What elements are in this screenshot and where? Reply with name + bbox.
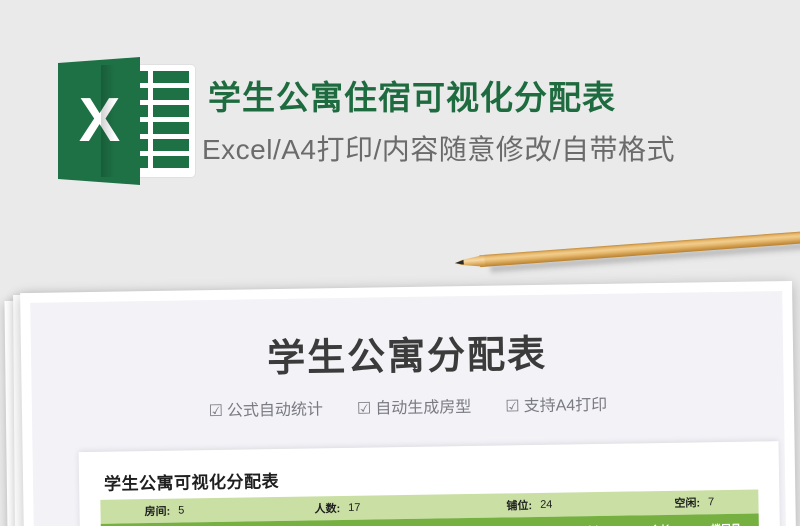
feature-label: 公式自动统计	[227, 401, 323, 420]
stat-people: 人数: 17	[284, 498, 472, 517]
checkbox-icon: ☑	[357, 401, 372, 418]
banner-title: 学生公寓住宿可视化分配表	[208, 71, 616, 119]
checkbox-icon: ☑	[209, 403, 224, 420]
feature-list: ☑公式自动统计 ☑自动生成房型 ☑支持A4打印	[32, 388, 784, 424]
stat-vacant: 空闲: 7	[664, 494, 758, 511]
excel-logo-icon: X	[58, 57, 198, 185]
feature-label: 支持A4打印	[524, 397, 608, 415]
stat-beds: 铺位: 24	[472, 495, 664, 514]
stat-value: 7	[708, 496, 714, 508]
document-title: 学生公寓分配表	[31, 319, 784, 386]
stat-rooms: 房间: 5	[100, 501, 284, 520]
feature-item-0: ☑公式自动统计	[208, 395, 323, 421]
banner-subtitle: Excel/A4打印/内容随意修改/自带格式	[202, 128, 675, 168]
document-page: 学生公寓分配表 ☑公式自动统计 ☑自动生成房型 ☑支持A4打印 学生公寓可视化分…	[30, 291, 786, 526]
spreadsheet-heading: 学生公寓可视化分配表	[104, 467, 279, 495]
column-header: 班级	[561, 521, 627, 526]
column-header: 会长	[627, 520, 693, 526]
feature-label: 自动生成房型	[375, 399, 471, 418]
stat-value: 5	[178, 505, 184, 517]
checkbox-icon: ☑	[505, 398, 520, 415]
stat-value: 17	[348, 502, 360, 514]
document-preview: 学生公寓分配表 ☑公式自动统计 ☑自动生成房型 ☑支持A4打印 学生公寓可视化分…	[20, 281, 796, 526]
column-header: 楼层号	[693, 519, 759, 526]
stat-label: 空闲:	[674, 494, 700, 510]
stat-label: 房间:	[144, 503, 170, 519]
feature-item-1: ☑自动生成房型	[357, 393, 472, 419]
stat-value: 24	[540, 499, 552, 511]
stat-label: 铺位:	[506, 497, 532, 513]
screenshot-stage: X 学生公寓住宿可视化分配表 Excel/A4打印/内容随意修改/自带格式 学生…	[0, 0, 800, 526]
spreadsheet-card: 学生公寓可视化分配表 房间: 5 人数: 17 铺位: 24	[79, 441, 781, 526]
promo-banner: X 学生公寓住宿可视化分配表 Excel/A4打印/内容随意修改/自带格式	[0, 0, 800, 240]
stat-label: 人数:	[314, 500, 340, 516]
feature-item-2: ☑支持A4打印	[505, 391, 607, 417]
column-header: 联系电话	[496, 522, 562, 526]
excel-logo-letter: X	[58, 57, 140, 185]
